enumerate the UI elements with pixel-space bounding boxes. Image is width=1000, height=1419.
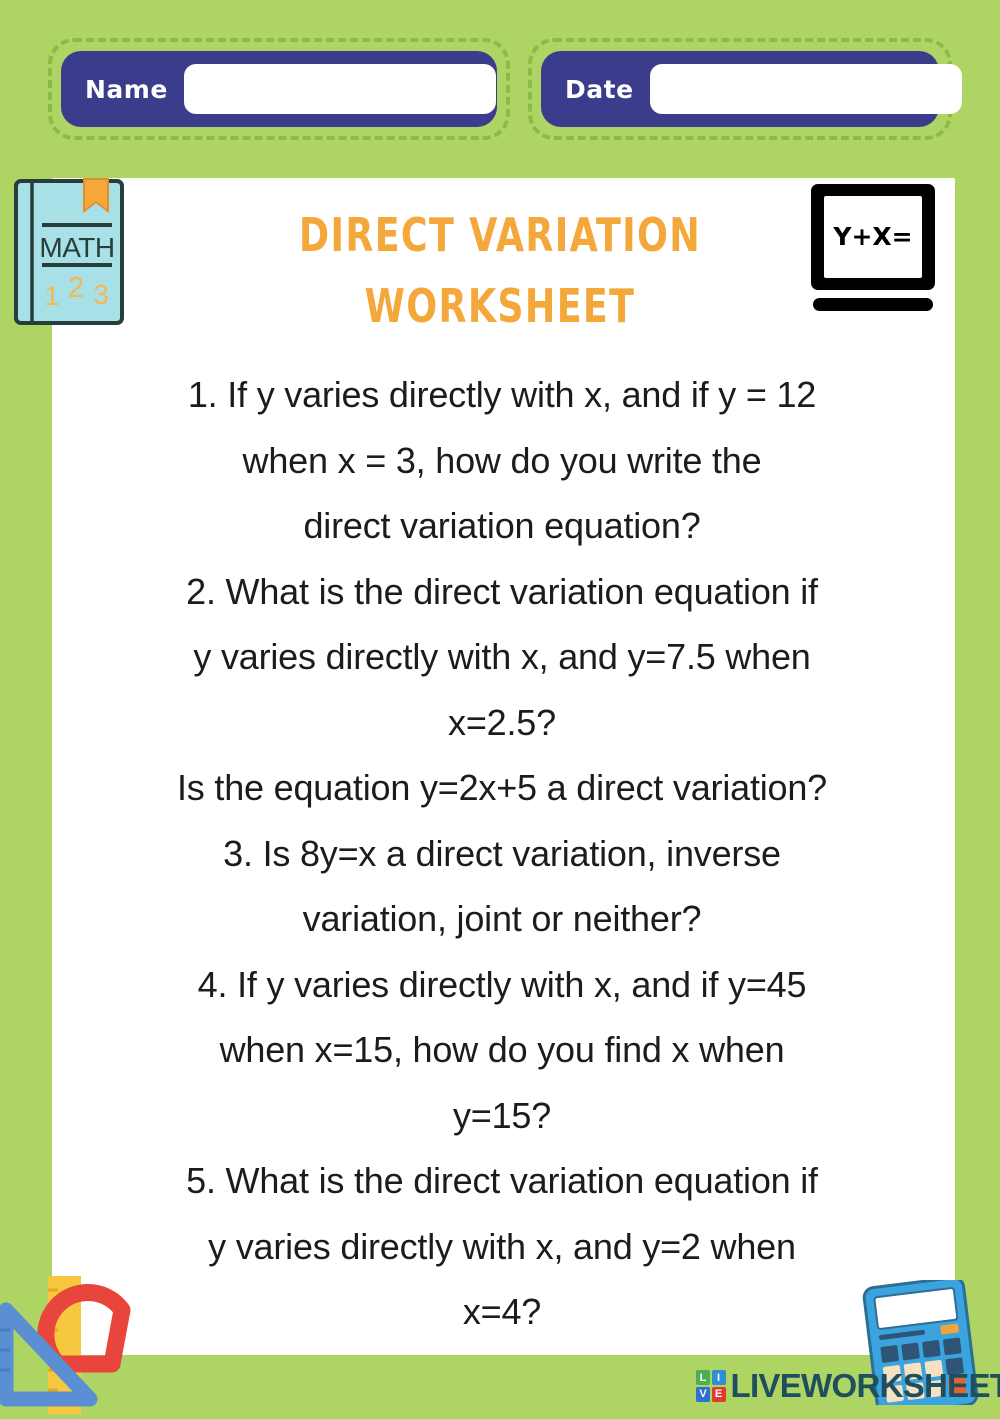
brand-name: LIVEWORKSHEETS	[731, 1367, 1000, 1405]
date-label: Date	[565, 75, 634, 104]
live-badge-letter-e: E	[712, 1387, 726, 1402]
questions-list: 1. If y varies directly with x, and if y…	[62, 362, 942, 1345]
title-line-2: WORKSHEET	[201, 271, 799, 342]
question-line: 4. If y varies directly with x, and if y…	[62, 952, 942, 1018]
name-field-box: Name	[61, 51, 497, 127]
question-line: y varies directly with x, and y=2 when	[62, 1214, 942, 1280]
name-input[interactable]	[184, 64, 496, 114]
svg-text:MATH: MATH	[39, 232, 114, 263]
math-book-icon: MATH 1 2 3	[12, 177, 130, 327]
worksheet-title: DIRECT VARIATION WORKSHEET	[160, 200, 840, 343]
svg-text:Y+X=: Y+X=	[832, 222, 912, 251]
question-line: x=2.5?	[62, 690, 942, 756]
question-line: y=15?	[62, 1083, 942, 1149]
title-line-1: DIRECT VARIATION	[201, 200, 799, 271]
question-line: 1. If y varies directly with x, and if y…	[62, 362, 942, 428]
svg-text:2: 2	[68, 272, 84, 304]
question-line: 3. Is 8y=x a direct variation, inverse	[62, 821, 942, 887]
question-line: direct variation equation?	[62, 493, 942, 559]
blackboard-icon: Y+X=	[808, 182, 943, 315]
svg-text:1: 1	[44, 281, 59, 311]
question-line: 2. What is the direct variation equation…	[62, 559, 942, 625]
question-line: 5. What is the direct variation equation…	[62, 1148, 942, 1214]
live-badge-letter-i: I	[712, 1370, 726, 1385]
question-line: y varies directly with x, and y=7.5 when	[62, 624, 942, 690]
date-field-wrapper: Date	[528, 38, 952, 140]
name-field-wrapper: Name	[48, 38, 510, 140]
geometry-tools-icon	[0, 1268, 150, 1414]
live-badge-letter-v: V	[696, 1387, 710, 1402]
date-field-box: Date	[541, 51, 939, 127]
header-fields-row: Name Date	[0, 0, 1000, 178]
date-input[interactable]	[650, 64, 962, 114]
svg-text:3: 3	[93, 279, 109, 310]
live-badge-letter-l: L	[696, 1370, 710, 1385]
question-line: variation, joint or neither?	[62, 886, 942, 952]
live-badge-icon: L I V E	[696, 1370, 726, 1402]
question-line: Is the equation y=2x+5 a direct variatio…	[62, 755, 942, 821]
question-line: when x=15, how do you find x when	[62, 1017, 942, 1083]
question-line: x=4?	[62, 1279, 942, 1345]
name-label: Name	[85, 75, 168, 104]
liveworksheets-logo: L I V E LIVEWORKSHEETS	[696, 1366, 1000, 1406]
question-line: when x = 3, how do you write the	[62, 428, 942, 494]
